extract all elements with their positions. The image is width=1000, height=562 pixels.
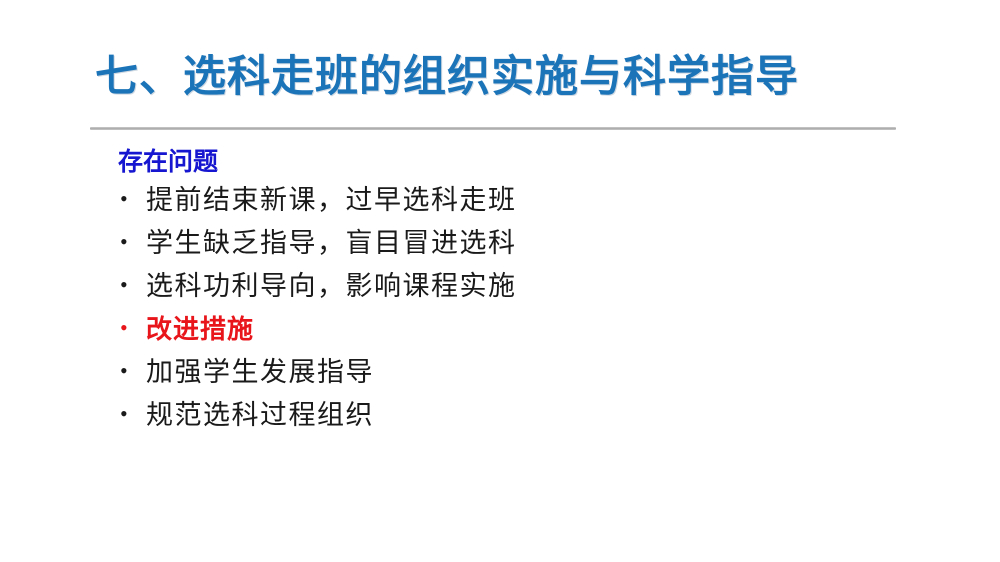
bullet-icon: • (110, 360, 146, 382)
list-item: • 提前结束新课，过早选科走班 (110, 187, 930, 230)
list-item-label: 加强学生发展指导 (146, 359, 374, 386)
section-heading-problems: 存在问题 (110, 150, 930, 175)
bullet-icon: • (110, 274, 146, 296)
content-body: 存在问题 • 提前结束新课，过早选科走班 • 学生缺乏指导，盲目冒进选科 • 选… (110, 150, 930, 445)
bullet-icon: • (110, 317, 146, 339)
list-item: • 加强学生发展指导 (110, 359, 930, 402)
list-item-label: 学生缺乏指导，盲目冒进选科 (146, 230, 517, 257)
list-item: • 学生缺乏指导，盲目冒进选科 (110, 230, 930, 273)
list-item-label: 选科功利导向，影响课程实施 (146, 273, 517, 300)
title-divider (90, 127, 896, 130)
slide-canvas: 七、选科走班的组织实施与科学指导 存在问题 • 提前结束新课，过早选科走班 • … (0, 0, 1000, 562)
bullet-icon: • (110, 231, 146, 253)
list-item-label: 提前结束新课，过早选科走班 (146, 187, 517, 214)
list-item-label: 规范选科过程组织 (146, 402, 374, 429)
bullet-icon: • (110, 188, 146, 210)
page-title: 七、选科走班的组织实施与科学指导 (95, 52, 955, 103)
section-heading-measures: 改进措施 (146, 316, 254, 342)
bullet-icon: • (110, 403, 146, 425)
list-item: • 规范选科过程组织 (110, 402, 930, 445)
list-item-measures-heading: • 改进措施 (110, 316, 930, 359)
list-item: • 选科功利导向，影响课程实施 (110, 273, 930, 316)
